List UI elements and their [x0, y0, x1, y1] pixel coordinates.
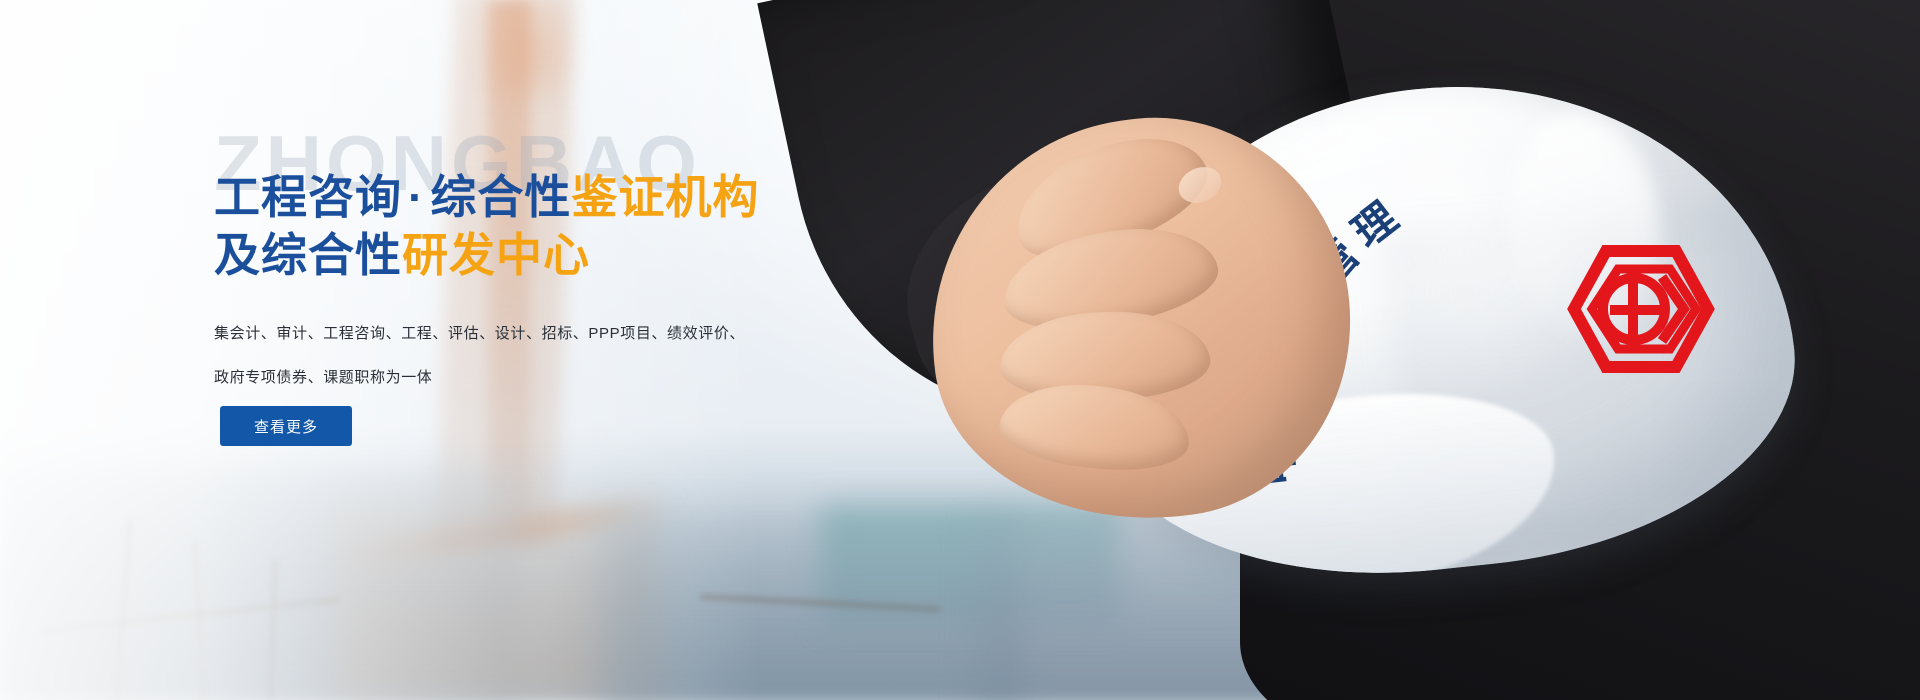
- headline-line1-accent: 鉴证机构: [571, 171, 759, 223]
- headline-line1-part2: 综合性: [430, 171, 571, 223]
- headline-separator: ·: [402, 171, 430, 223]
- crane-top: [470, 0, 580, 100]
- subtitle-line-2: 政府专项债券、课题职称为一体: [214, 356, 834, 400]
- view-more-button[interactable]: 查看更多: [220, 406, 352, 446]
- zhongbao-hexagon-emblem-icon: [1566, 243, 1716, 375]
- headline-line2: 及综合性研发中心: [214, 226, 759, 284]
- hero-banner: 中宝工程管理 ZHONGBAO 工程咨询·综合性鉴证机构 及综合性研发中心 集会…: [0, 0, 1920, 700]
- subtitle: 集会计、审计、工程咨询、工程、评估、设计、招标、PPP项目、绩效评价、 政府专项…: [214, 312, 834, 400]
- headline-line2-accent: 研发中心: [402, 229, 590, 281]
- headline-line2-part1: 及综合性: [214, 229, 402, 281]
- headline: 工程咨询·综合性鉴证机构 及综合性研发中心: [214, 168, 759, 284]
- subtitle-line-1: 集会计、审计、工程咨询、工程、评估、设计、招标、PPP项目、绩效评价、: [214, 312, 834, 356]
- headline-line1-part1: 工程咨询: [214, 171, 402, 223]
